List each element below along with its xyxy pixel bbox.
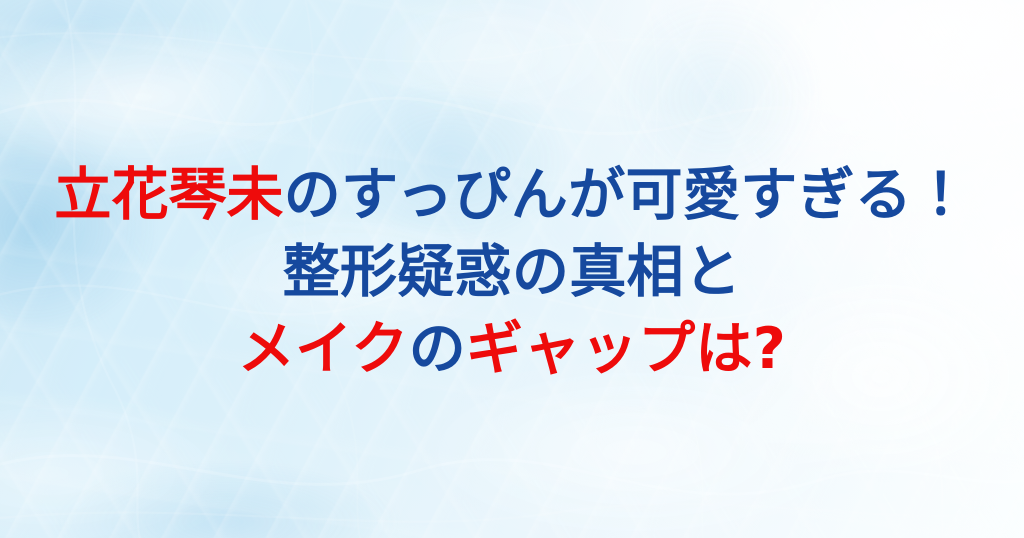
headline-line-1: 立花琴未のすっぴんが可愛すぎる！ xyxy=(54,157,969,234)
headline-line-3-segment-gap: ギャップは? xyxy=(466,316,786,382)
eyecatch-canvas: 立花琴未のすっぴんが可愛すぎる！ 整形疑惑の真相と メイクのギャップは? xyxy=(0,0,1024,538)
headline-line-3: メイクのギャップは? xyxy=(238,311,786,388)
headline-line-3-segment-no: の xyxy=(409,316,466,382)
headline-line-2-segment-main: 整形疑惑の真相と xyxy=(283,239,742,305)
headline-line-2: 整形疑惑の真相と xyxy=(283,234,742,311)
headline-line-1-segment-name: 立花琴未 xyxy=(54,162,283,228)
headline-line-1-segment-rest: のすっぴんが可愛すぎる！ xyxy=(284,162,970,228)
headline-block: 立花琴未のすっぴんが可愛すぎる！ 整形疑惑の真相と メイクのギャップは? xyxy=(0,0,1024,538)
headline-line-3-segment-makeup: メイク xyxy=(238,316,409,382)
